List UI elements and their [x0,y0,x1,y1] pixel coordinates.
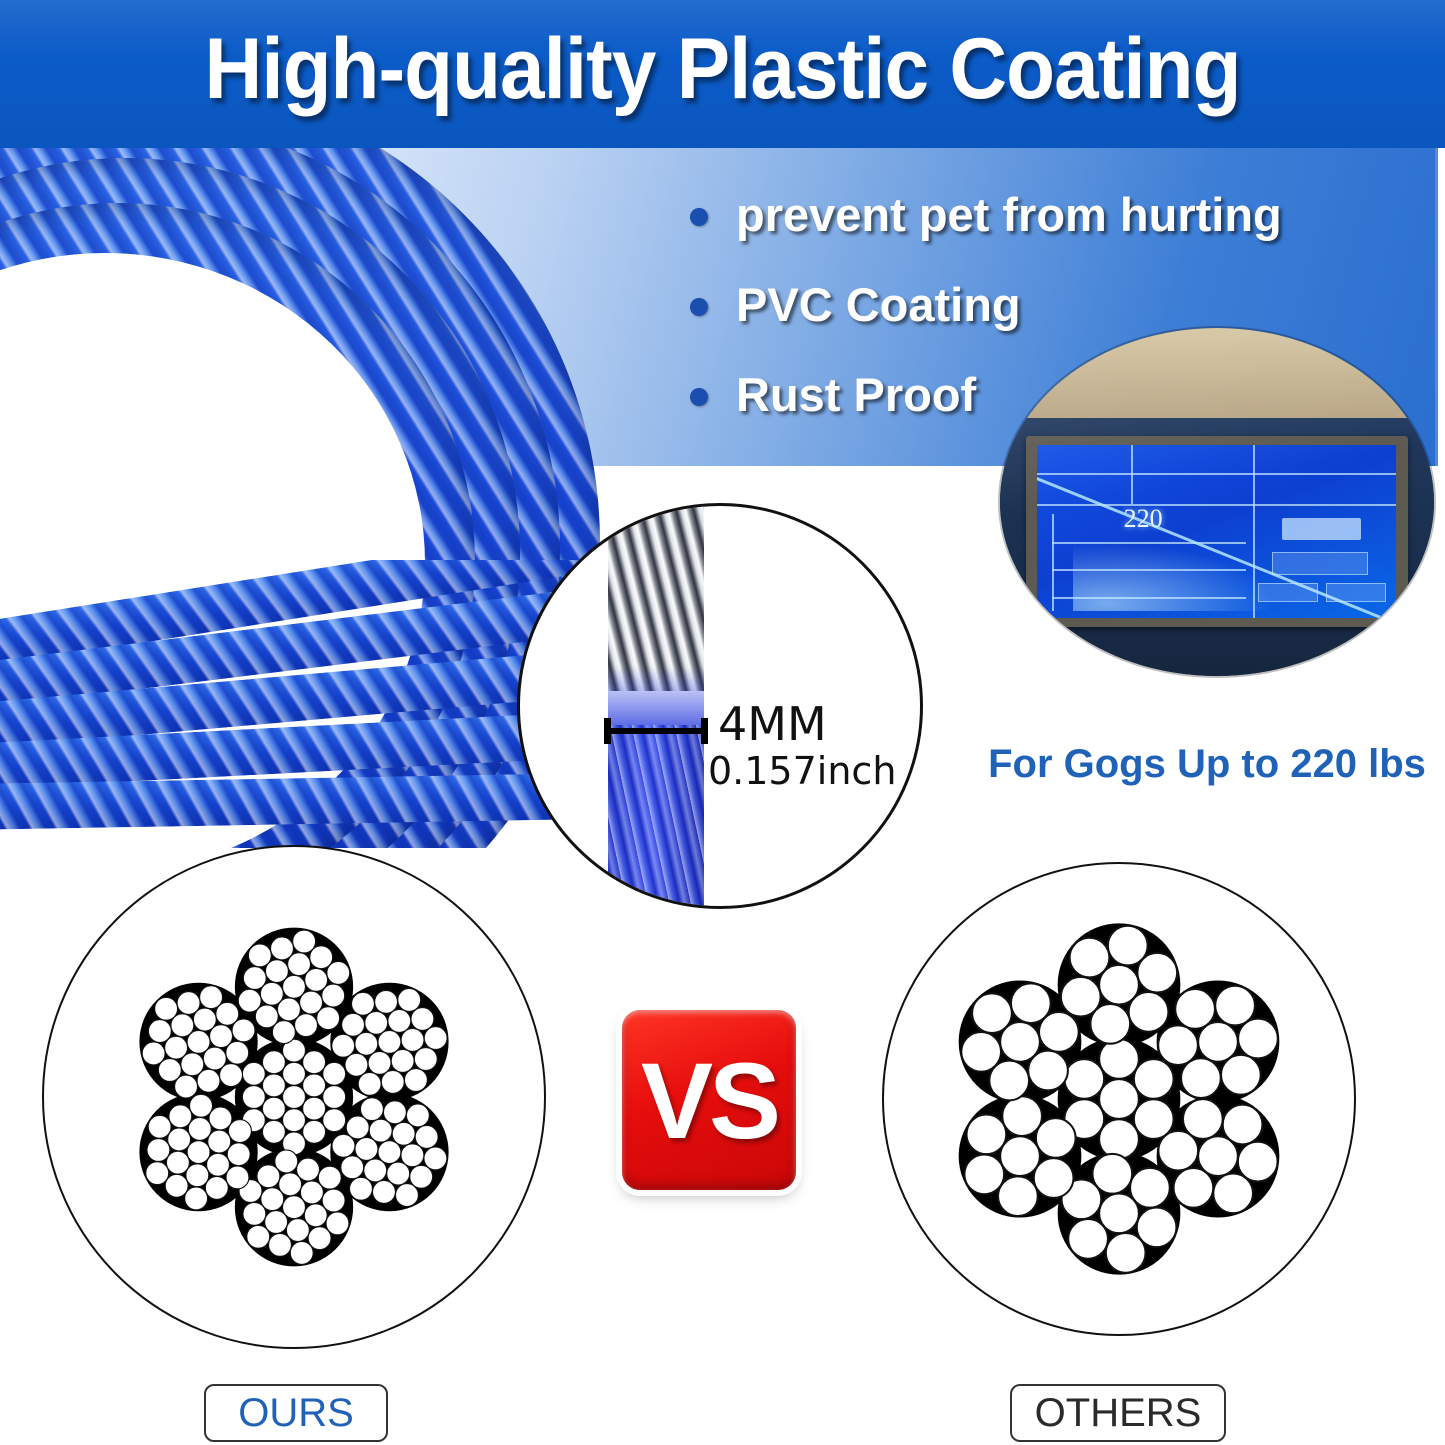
bullet-dot-icon [690,298,708,316]
list-item: prevent pet from hurting [690,186,1390,244]
diameter-inch-label: 0.157inch [708,749,896,793]
dimension-bar-icon [604,718,708,744]
steel-wire-section [608,503,704,691]
bullet-dot-icon [690,388,708,406]
cable-diameter-callout: 4MM 0.157inch [517,503,923,909]
vs-badge: VS [622,1010,796,1190]
bullet-label: Rust Proof [736,366,976,424]
panel-edge [1435,148,1438,466]
bullet-dot-icon [690,208,708,226]
list-item: PVC Coating [690,276,1390,334]
others-tag-label: OTHERS [1035,1391,1202,1435]
diameter-mm-label: 4MM [718,699,827,749]
pvc-coating-section [608,725,704,909]
vs-label: VS [641,1038,777,1163]
bullet-label: PVC Coating [736,276,1021,334]
ours-tag-label: OURS [238,1391,354,1435]
ours-cross-section-diagram [42,845,546,1349]
ours-tag: OURS [204,1384,388,1442]
ours-wire-rope-svg [44,847,544,1347]
header-banner: High-quality Plastic Coating [0,0,1445,148]
others-cross-section-diagram [882,862,1356,1336]
bullet-label: prevent pet from hurting [736,186,1282,244]
cable-sample [608,503,704,909]
capacity-caption: For Gogs Up to 220 lbs [972,740,1442,788]
machine-photo-glare [1000,328,1434,676]
tensile-test-machine-photo: 220 [1000,328,1434,676]
others-tag: OTHERS [1010,1384,1226,1442]
page-title: High-quality Plastic Coating [51,14,1395,124]
others-wire-rope-svg [884,864,1354,1334]
